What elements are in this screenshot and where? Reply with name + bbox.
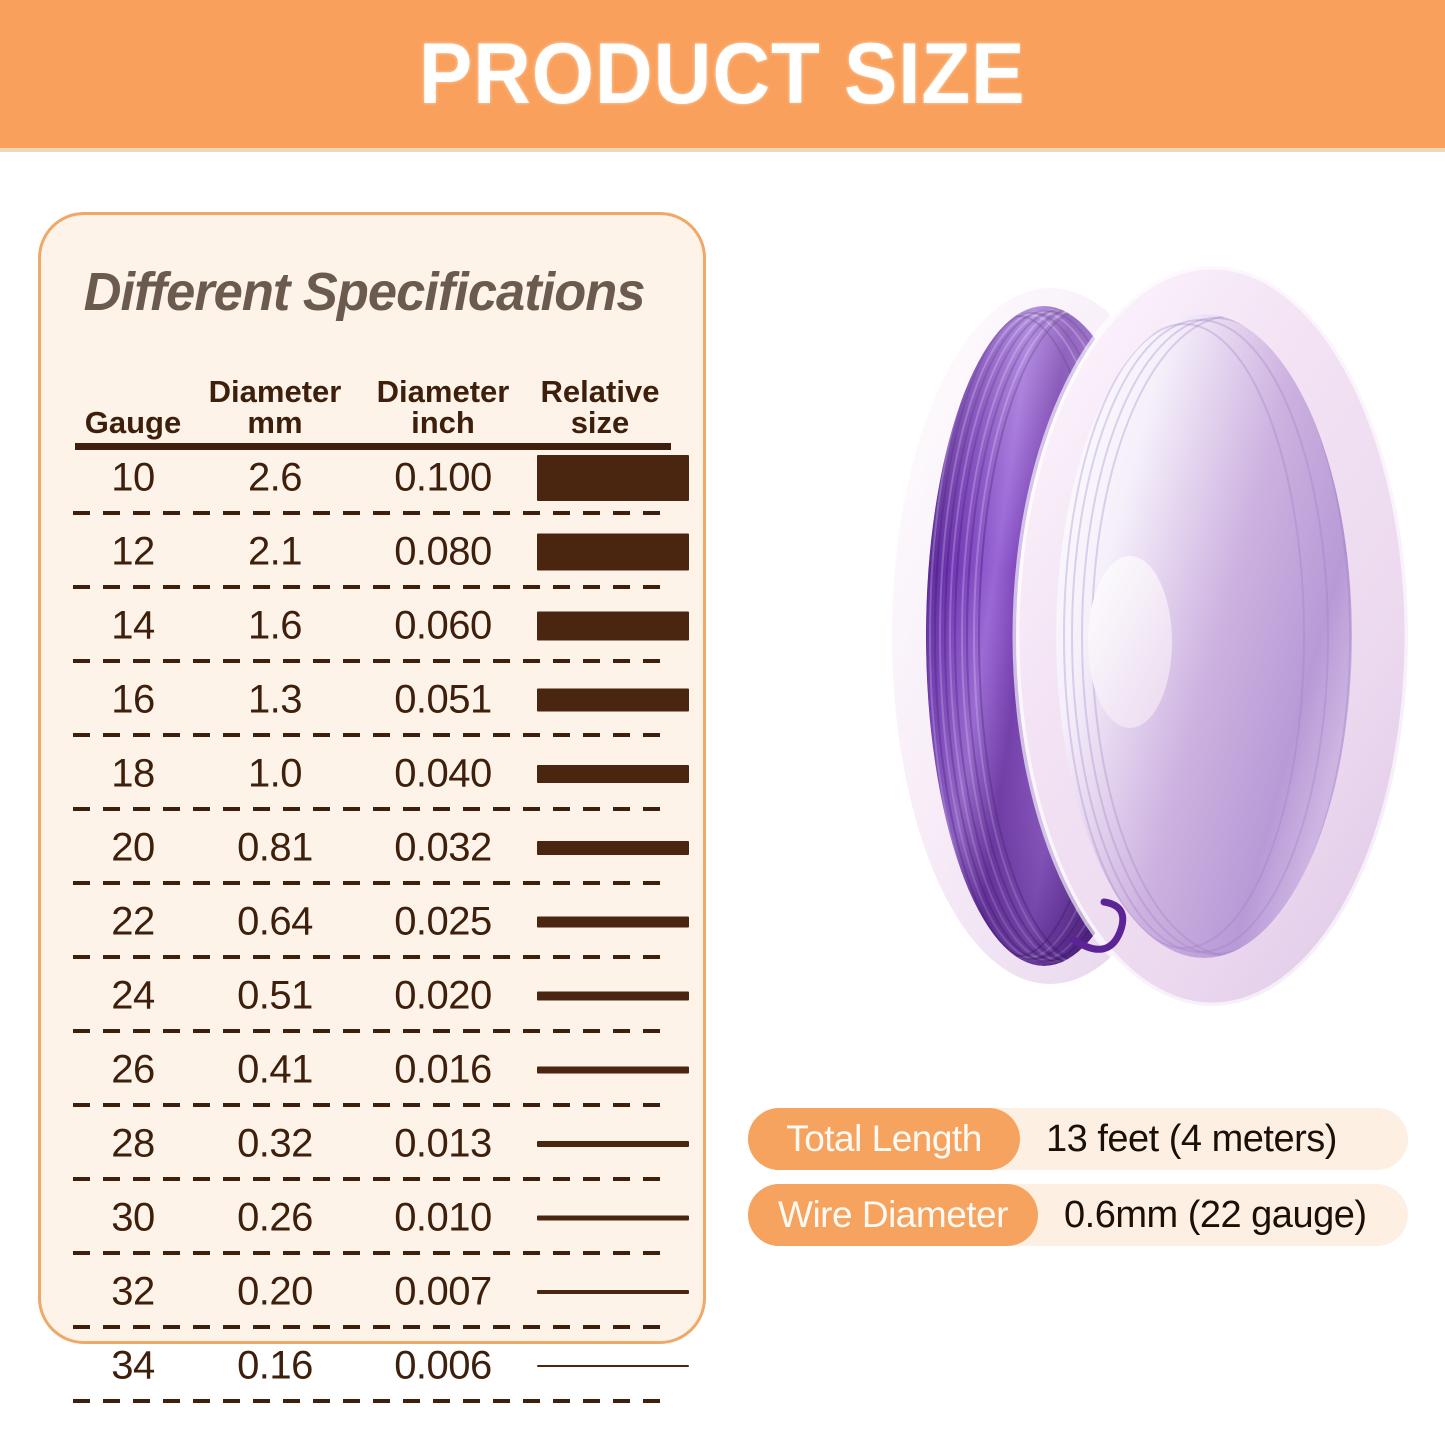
table-row: 240.510.020 [73, 959, 673, 1033]
cell-diameter-inch: 0.060 [359, 604, 527, 649]
column-header-relative-size: Relative size [525, 376, 675, 439]
row-separator [73, 1399, 673, 1403]
cell-gauge: 34 [73, 1344, 193, 1389]
relative-size-bar [537, 1141, 689, 1147]
gauge-specifications-table: Gauge Diameter mm Diameter inch Relative… [73, 365, 673, 1403]
cell-relative-size [537, 1365, 689, 1367]
cell-gauge: 14 [73, 604, 193, 649]
cell-diameter-inch: 0.051 [359, 678, 527, 723]
cell-relative-size [537, 612, 689, 641]
badge-label-wire-diameter: Wire Diameter [748, 1184, 1038, 1246]
column-header-diameter-inch-line1: Diameter [377, 374, 510, 409]
product-spec-badges: Total Length 13 feet (4 meters) Wire Dia… [748, 1108, 1408, 1260]
table-row: 300.260.010 [73, 1181, 673, 1255]
specifications-card: Different Specifications Gauge Diameter … [38, 212, 706, 1344]
cell-relative-size [537, 841, 689, 855]
column-header-diameter-mm: Diameter mm [191, 376, 359, 439]
cell-gauge: 28 [73, 1122, 193, 1167]
cell-diameter-inch: 0.040 [359, 752, 527, 797]
product-photo-wire-spool [812, 250, 1445, 1020]
cell-diameter-mm: 0.51 [191, 974, 359, 1019]
cell-diameter-inch: 0.020 [359, 974, 527, 1019]
relative-size-bar [537, 612, 689, 641]
cell-relative-size [537, 455, 689, 501]
column-header-diameter-mm-line2: mm [191, 407, 359, 439]
cell-diameter-mm: 0.20 [191, 1270, 359, 1315]
table-row: 340.160.006 [73, 1329, 673, 1403]
column-header-gauge: Gauge [73, 407, 193, 439]
table-row: 141.60.060 [73, 589, 673, 663]
cell-diameter-mm: 0.16 [191, 1344, 359, 1389]
cell-gauge: 30 [73, 1196, 193, 1241]
column-header-relative-size-line2: size [525, 407, 675, 439]
wire-spool-illustration [812, 250, 1445, 1020]
cell-relative-size [537, 765, 689, 783]
cell-diameter-mm: 0.81 [191, 826, 359, 871]
cell-relative-size [537, 689, 689, 712]
column-header-gauge-line1: Gauge [85, 405, 181, 440]
cell-gauge: 12 [73, 530, 193, 575]
relative-size-bar [537, 534, 689, 571]
cell-relative-size [537, 1216, 689, 1221]
cell-diameter-inch: 0.007 [359, 1270, 527, 1315]
table-row: 320.200.007 [73, 1255, 673, 1329]
cell-relative-size [537, 534, 689, 571]
cell-relative-size [537, 917, 689, 928]
cell-diameter-mm: 2.1 [191, 530, 359, 575]
cell-diameter-mm: 1.3 [191, 678, 359, 723]
column-header-diameter-inch-line2: inch [359, 407, 527, 439]
cell-gauge: 22 [73, 900, 193, 945]
cell-gauge: 24 [73, 974, 193, 1019]
cell-diameter-inch: 0.080 [359, 530, 527, 575]
table-row: 260.410.016 [73, 1033, 673, 1107]
table-row: 181.00.040 [73, 737, 673, 811]
cell-diameter-inch: 0.025 [359, 900, 527, 945]
relative-size-bar [537, 689, 689, 712]
badge-value-total-length: 13 feet (4 meters) [1046, 1118, 1337, 1161]
page-title: PRODUCT SIZE [419, 25, 1026, 124]
cell-diameter-inch: 0.032 [359, 826, 527, 871]
cell-gauge: 18 [73, 752, 193, 797]
relative-size-bar [537, 1365, 689, 1367]
table-body: 102.60.100122.10.080141.60.060161.30.051… [73, 441, 673, 1403]
header-banner: PRODUCT SIZE [0, 0, 1445, 148]
relative-size-bar [537, 841, 689, 855]
relative-size-bar [537, 1067, 689, 1074]
table-row: 161.30.051 [73, 663, 673, 737]
cell-relative-size [537, 1067, 689, 1074]
cell-diameter-mm: 1.0 [191, 752, 359, 797]
relative-size-bar [537, 917, 689, 928]
cell-diameter-inch: 0.100 [359, 456, 527, 501]
cell-gauge: 32 [73, 1270, 193, 1315]
badge-total-length: Total Length 13 feet (4 meters) [748, 1108, 1408, 1170]
cell-diameter-mm: 2.6 [191, 456, 359, 501]
column-header-diameter-inch: Diameter inch [359, 376, 527, 439]
table-row: 200.810.032 [73, 811, 673, 885]
card-title: Different Specifications [84, 261, 645, 323]
cell-diameter-inch: 0.006 [359, 1344, 527, 1389]
cell-gauge: 16 [73, 678, 193, 723]
table-row: 220.640.025 [73, 885, 673, 959]
relative-size-bar [537, 992, 689, 1001]
cell-diameter-inch: 0.013 [359, 1122, 527, 1167]
cell-diameter-mm: 0.26 [191, 1196, 359, 1241]
cell-diameter-mm: 1.6 [191, 604, 359, 649]
spool-center-hub [1088, 556, 1172, 728]
cell-gauge: 26 [73, 1048, 193, 1093]
column-header-relative-size-line1: Relative [541, 374, 660, 409]
cell-diameter-inch: 0.010 [359, 1196, 527, 1241]
cell-relative-size [537, 1290, 689, 1294]
relative-size-bar [537, 455, 689, 501]
cell-diameter-mm: 0.64 [191, 900, 359, 945]
table-header-row: Gauge Diameter mm Diameter inch Relative… [73, 365, 673, 441]
badge-value-wire-diameter: 0.6mm (22 gauge) [1064, 1194, 1367, 1237]
cell-diameter-mm: 0.32 [191, 1122, 359, 1167]
badge-label-total-length: Total Length [748, 1108, 1020, 1170]
cell-gauge: 20 [73, 826, 193, 871]
relative-size-bar [537, 1290, 689, 1294]
badge-wire-diameter: Wire Diameter 0.6mm (22 gauge) [748, 1184, 1408, 1246]
cell-relative-size [537, 1141, 689, 1147]
cell-diameter-inch: 0.016 [359, 1048, 527, 1093]
table-row: 122.10.080 [73, 515, 673, 589]
cell-relative-size [537, 992, 689, 1001]
table-row: 280.320.013 [73, 1107, 673, 1181]
table-row: 102.60.100 [73, 441, 673, 515]
cell-diameter-mm: 0.41 [191, 1048, 359, 1093]
relative-size-bar [537, 1216, 689, 1221]
relative-size-bar [537, 765, 689, 783]
cell-gauge: 10 [73, 456, 193, 501]
column-header-diameter-mm-line1: Diameter [209, 374, 342, 409]
